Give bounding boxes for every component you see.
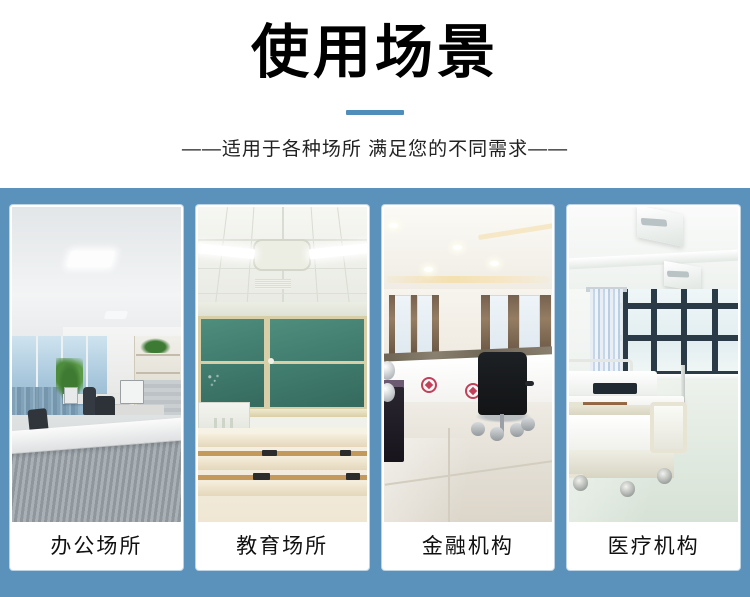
scenario-label-finance: 金融机构	[384, 522, 553, 568]
classroom-wall-band	[198, 302, 367, 316]
hospital-window	[620, 289, 738, 377]
scenario-label-education: 教育场所	[198, 522, 367, 568]
cove-lighting-strip-icon	[387, 276, 549, 282]
scenarios-band: 办公场所	[0, 188, 750, 597]
bed-control-panel	[593, 383, 637, 394]
scenario-card-education[interactable]: 教育场所	[196, 205, 369, 570]
chalkboard-divider-dot-icon	[268, 358, 274, 364]
bed-caster-icon	[573, 475, 588, 491]
office-desk-b	[107, 405, 164, 414]
page-header: 使用场景 ——适用于各种场所 满足您的不同需求——	[0, 0, 750, 188]
scenario-label-office: 办公场所	[12, 522, 181, 568]
scenario-card-office[interactable]: 办公场所	[10, 205, 183, 570]
computer-monitor-icon	[120, 380, 144, 404]
hospital-photo	[569, 207, 738, 522]
ceiling-air-vent-icon	[253, 239, 311, 271]
chalk-writing	[207, 372, 221, 388]
ceiling-diffuser-icon	[255, 279, 290, 288]
chalkboard-left	[198, 316, 267, 411]
office-photo	[12, 207, 181, 522]
title-underline-rule	[346, 110, 404, 115]
ceiling-panel-light-icon	[67, 251, 115, 267]
bank-logo-icon	[421, 377, 437, 393]
office-ceiling	[12, 207, 181, 342]
scenario-label-medical: 医疗机构	[569, 522, 738, 568]
usage-scenarios-page: 使用场景 ——适用于各种场所 满足您的不同需求——	[0, 0, 750, 597]
bank-photo	[384, 207, 553, 522]
scenario-card-finance[interactable]: 金融机构	[382, 205, 555, 570]
computer-monitor-secondary-icon	[64, 387, 78, 405]
ceiling-panel-light-secondary-icon	[104, 311, 128, 319]
shelf-plant-icon	[140, 338, 170, 354]
chalkboard-right	[267, 316, 367, 411]
chair-casters	[471, 412, 533, 437]
page-subtitle: ——适用于各种场所 满足您的不同需求——	[0, 137, 750, 163]
scenario-card-medical[interactable]: 医疗机构	[567, 205, 740, 570]
bed-head-rail	[569, 402, 583, 478]
classroom-photo	[198, 207, 367, 522]
bed-caster-icon	[620, 481, 635, 497]
page-title: 使用场景	[0, 16, 750, 90]
bed-side-rail	[650, 402, 687, 452]
scenario-card-list: 办公场所	[10, 205, 740, 570]
bank-office-chair	[478, 352, 527, 415]
